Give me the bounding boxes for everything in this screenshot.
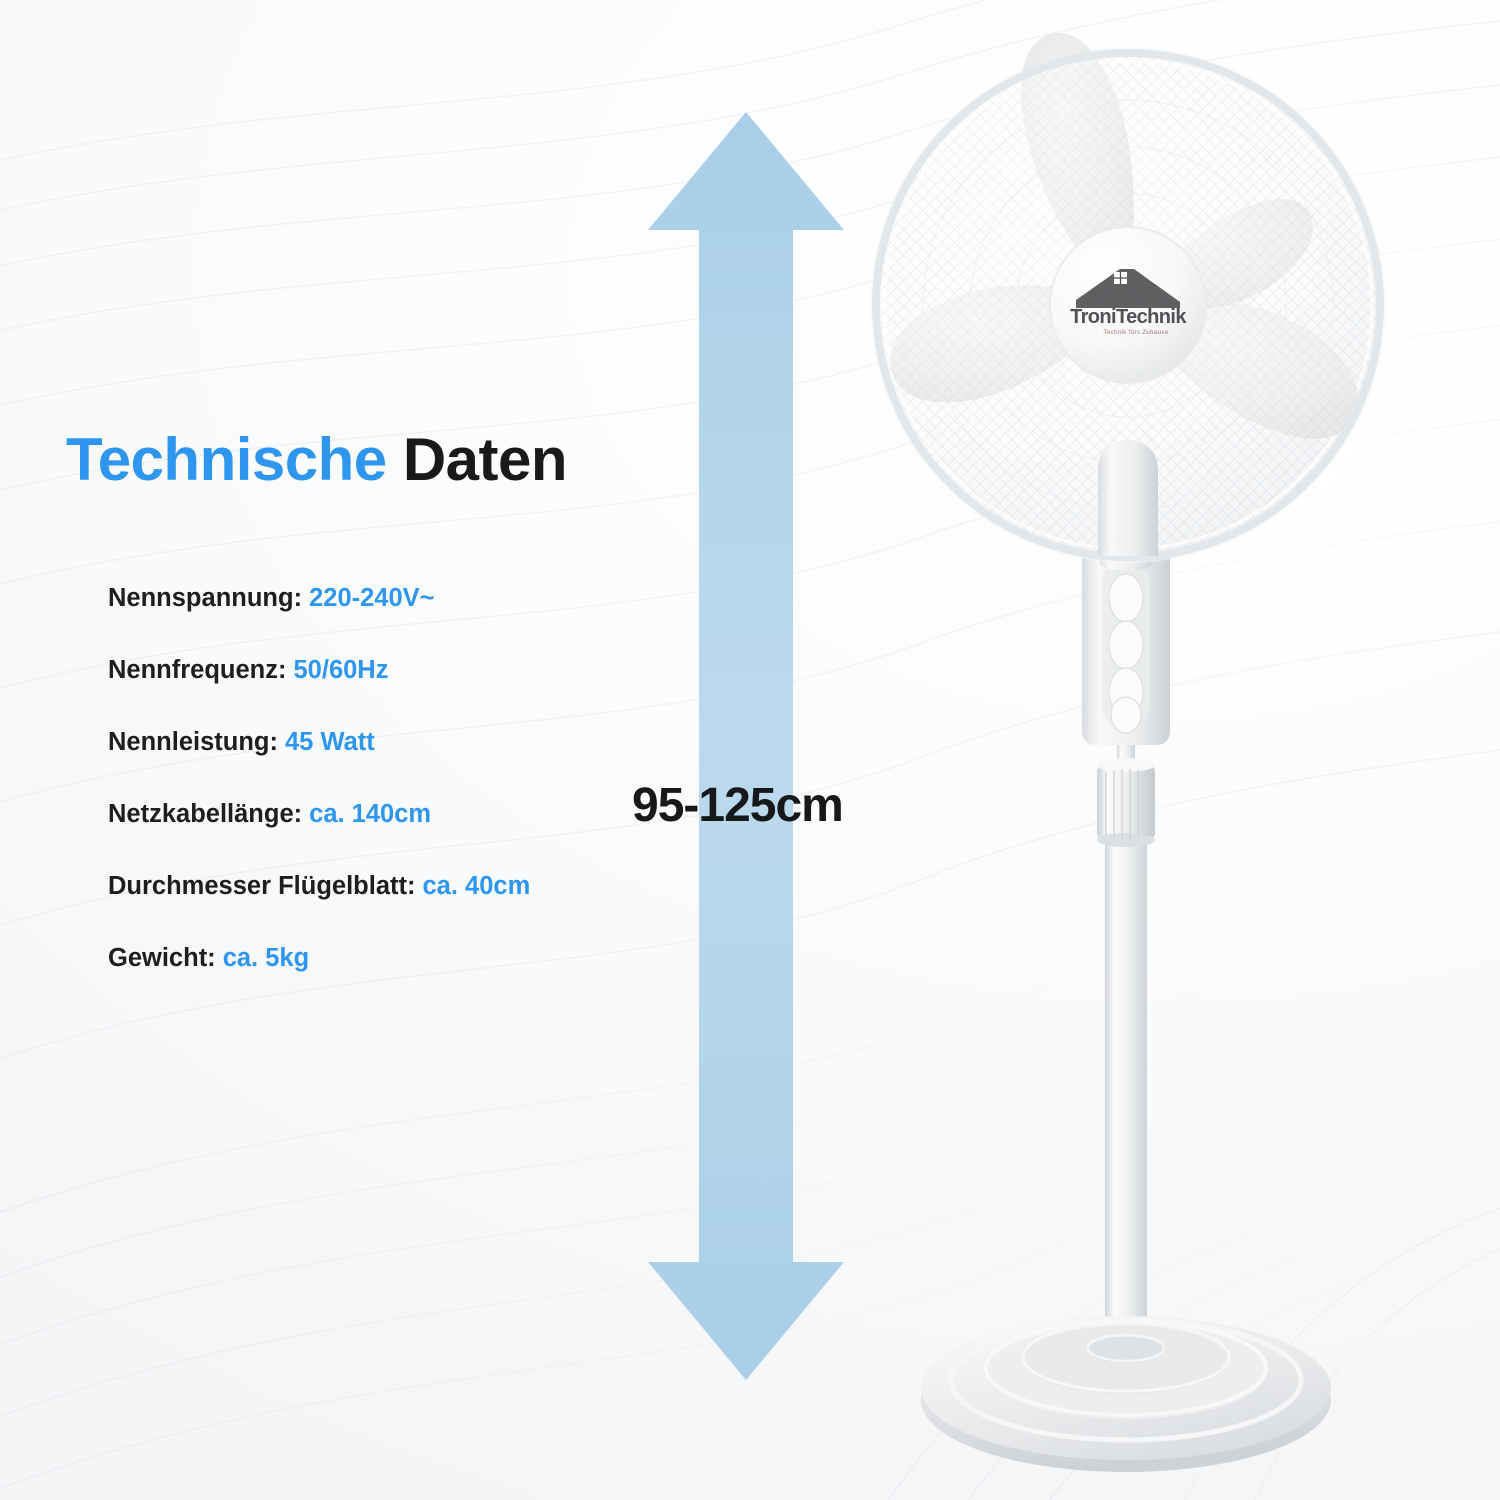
spec-label: Nennfrequenz: xyxy=(108,658,287,684)
spec-value: ca. 140cm xyxy=(309,802,431,828)
control-button-2 xyxy=(1109,621,1143,669)
height-adjust-collar xyxy=(1097,758,1155,847)
height-arrow-icon xyxy=(640,112,852,1380)
spec-row: Durchmesser Flügelblatt: ca. 40cm xyxy=(108,851,728,923)
fan-base xyxy=(921,1316,1331,1472)
product-spec-banner: Technische Daten Nennspannung: 220-240V~… xyxy=(0,0,1500,1500)
spec-label: Netzkabellänge: xyxy=(108,802,302,828)
spec-label: Nennspannung: xyxy=(108,586,302,612)
control-buttons xyxy=(1109,574,1143,733)
page-title-accent: Technische xyxy=(66,426,387,493)
spec-row: Nennleistung: 45 Watt xyxy=(108,707,728,779)
spec-value: 45 Watt xyxy=(285,730,375,756)
page-title-main: Daten xyxy=(387,426,567,493)
dimension-label: 95-125cm xyxy=(632,778,843,833)
spec-row: Nennspannung: 220-240V~ xyxy=(108,563,728,635)
spec-row: Nennfrequenz: 50/60Hz xyxy=(108,635,728,707)
control-button-1 xyxy=(1109,574,1143,622)
spec-value: ca. 5kg xyxy=(223,946,309,972)
fan-joint-cover xyxy=(1098,440,1158,556)
spec-value: 50/60Hz xyxy=(294,658,389,684)
spec-label: Durchmesser Flügelblatt: xyxy=(108,874,415,900)
control-button-4 xyxy=(1111,697,1141,733)
page-title: Technische Daten xyxy=(66,430,567,490)
spec-value: 220-240V~ xyxy=(309,586,434,612)
spec-row: Gewicht: ca. 5kg xyxy=(108,923,728,995)
fan-control-panel xyxy=(1082,545,1170,745)
spec-value: ca. 40cm xyxy=(422,874,530,900)
spec-label: Gewicht: xyxy=(108,946,216,972)
fan-lower-pole xyxy=(1105,820,1147,1350)
spec-label: Nennleistung: xyxy=(108,730,278,756)
pedestal-fan-image: TroniTechnik Technik fürs Zuhause xyxy=(840,0,1500,1500)
